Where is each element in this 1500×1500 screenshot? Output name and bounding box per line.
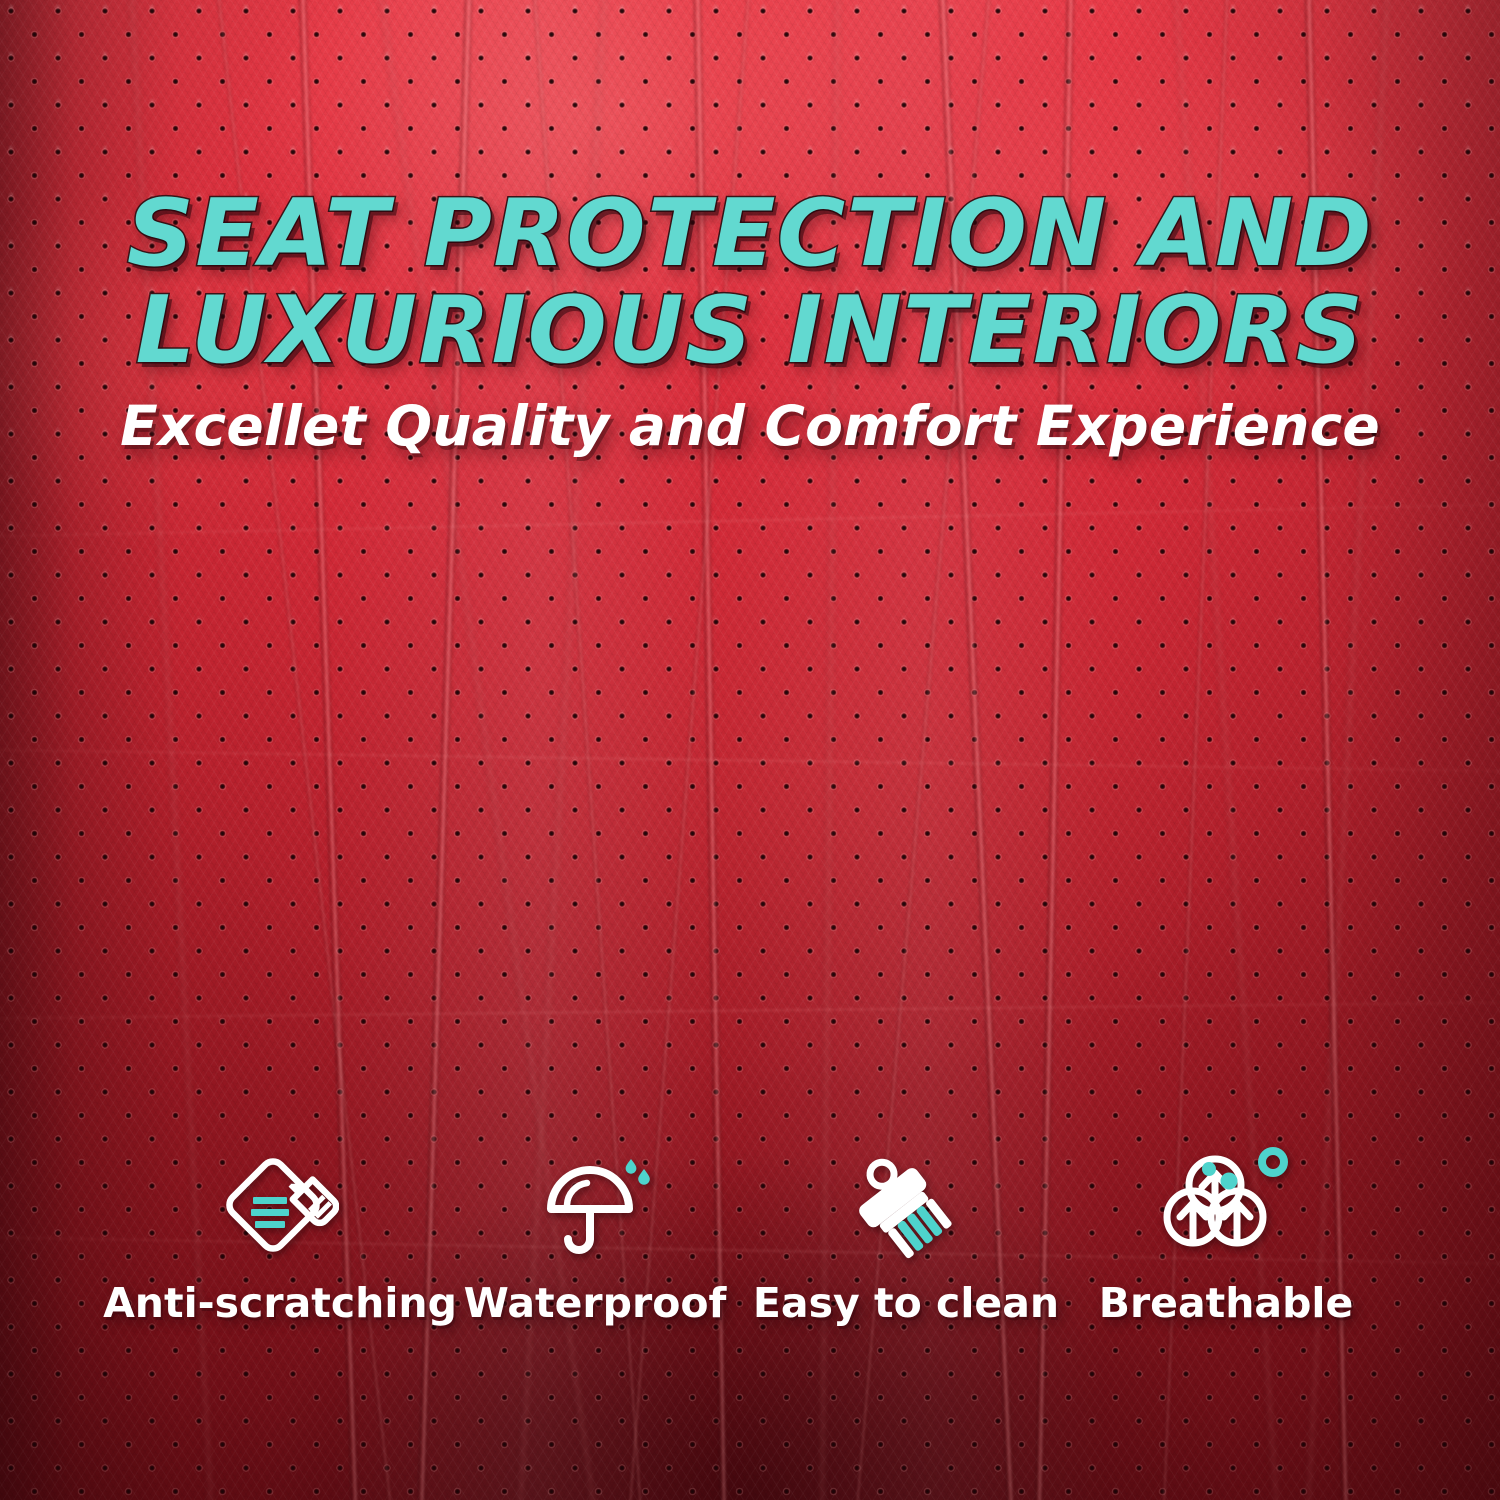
product-feature-banner: SEAT PROTECTION AND LUXURIOUS INTERIORS … <box>0 0 1500 1500</box>
scratch-resistant-diamond-icon <box>221 1147 339 1259</box>
feature-label-easy-to-clean: Easy to clean <box>753 1283 1059 1324</box>
feature-list: Anti-scratching <box>0 1147 1500 1324</box>
cleaning-brush-icon <box>847 1147 965 1259</box>
page-subtitle: Excellet Quality and Comfort Experience <box>60 396 1440 457</box>
feature-item-waterproof: Waterproof <box>445 1147 745 1324</box>
feature-label-anti-scratching: Anti-scratching <box>103 1283 457 1324</box>
feature-label-breathable: Breathable <box>1099 1283 1354 1324</box>
feature-item-easy-to-clean: Easy to clean <box>745 1147 1067 1324</box>
feature-item-anti-scratching: Anti-scratching <box>115 1147 445 1324</box>
umbrella-raindrops-icon <box>539 1147 651 1259</box>
headline-line-2: LUXURIOUS INTERIORS <box>60 282 1440 379</box>
headline-line-1: SEAT PROTECTION AND <box>127 179 1373 287</box>
breathable-airflow-clouds-icon <box>1163 1147 1289 1259</box>
feature-label-waterproof: Waterproof <box>464 1283 727 1324</box>
page-title: SEAT PROTECTION AND LUXURIOUS INTERIORS <box>60 185 1440 378</box>
feature-item-breathable: Breathable <box>1067 1147 1385 1324</box>
headline-block: SEAT PROTECTION AND LUXURIOUS INTERIORS … <box>0 185 1500 457</box>
